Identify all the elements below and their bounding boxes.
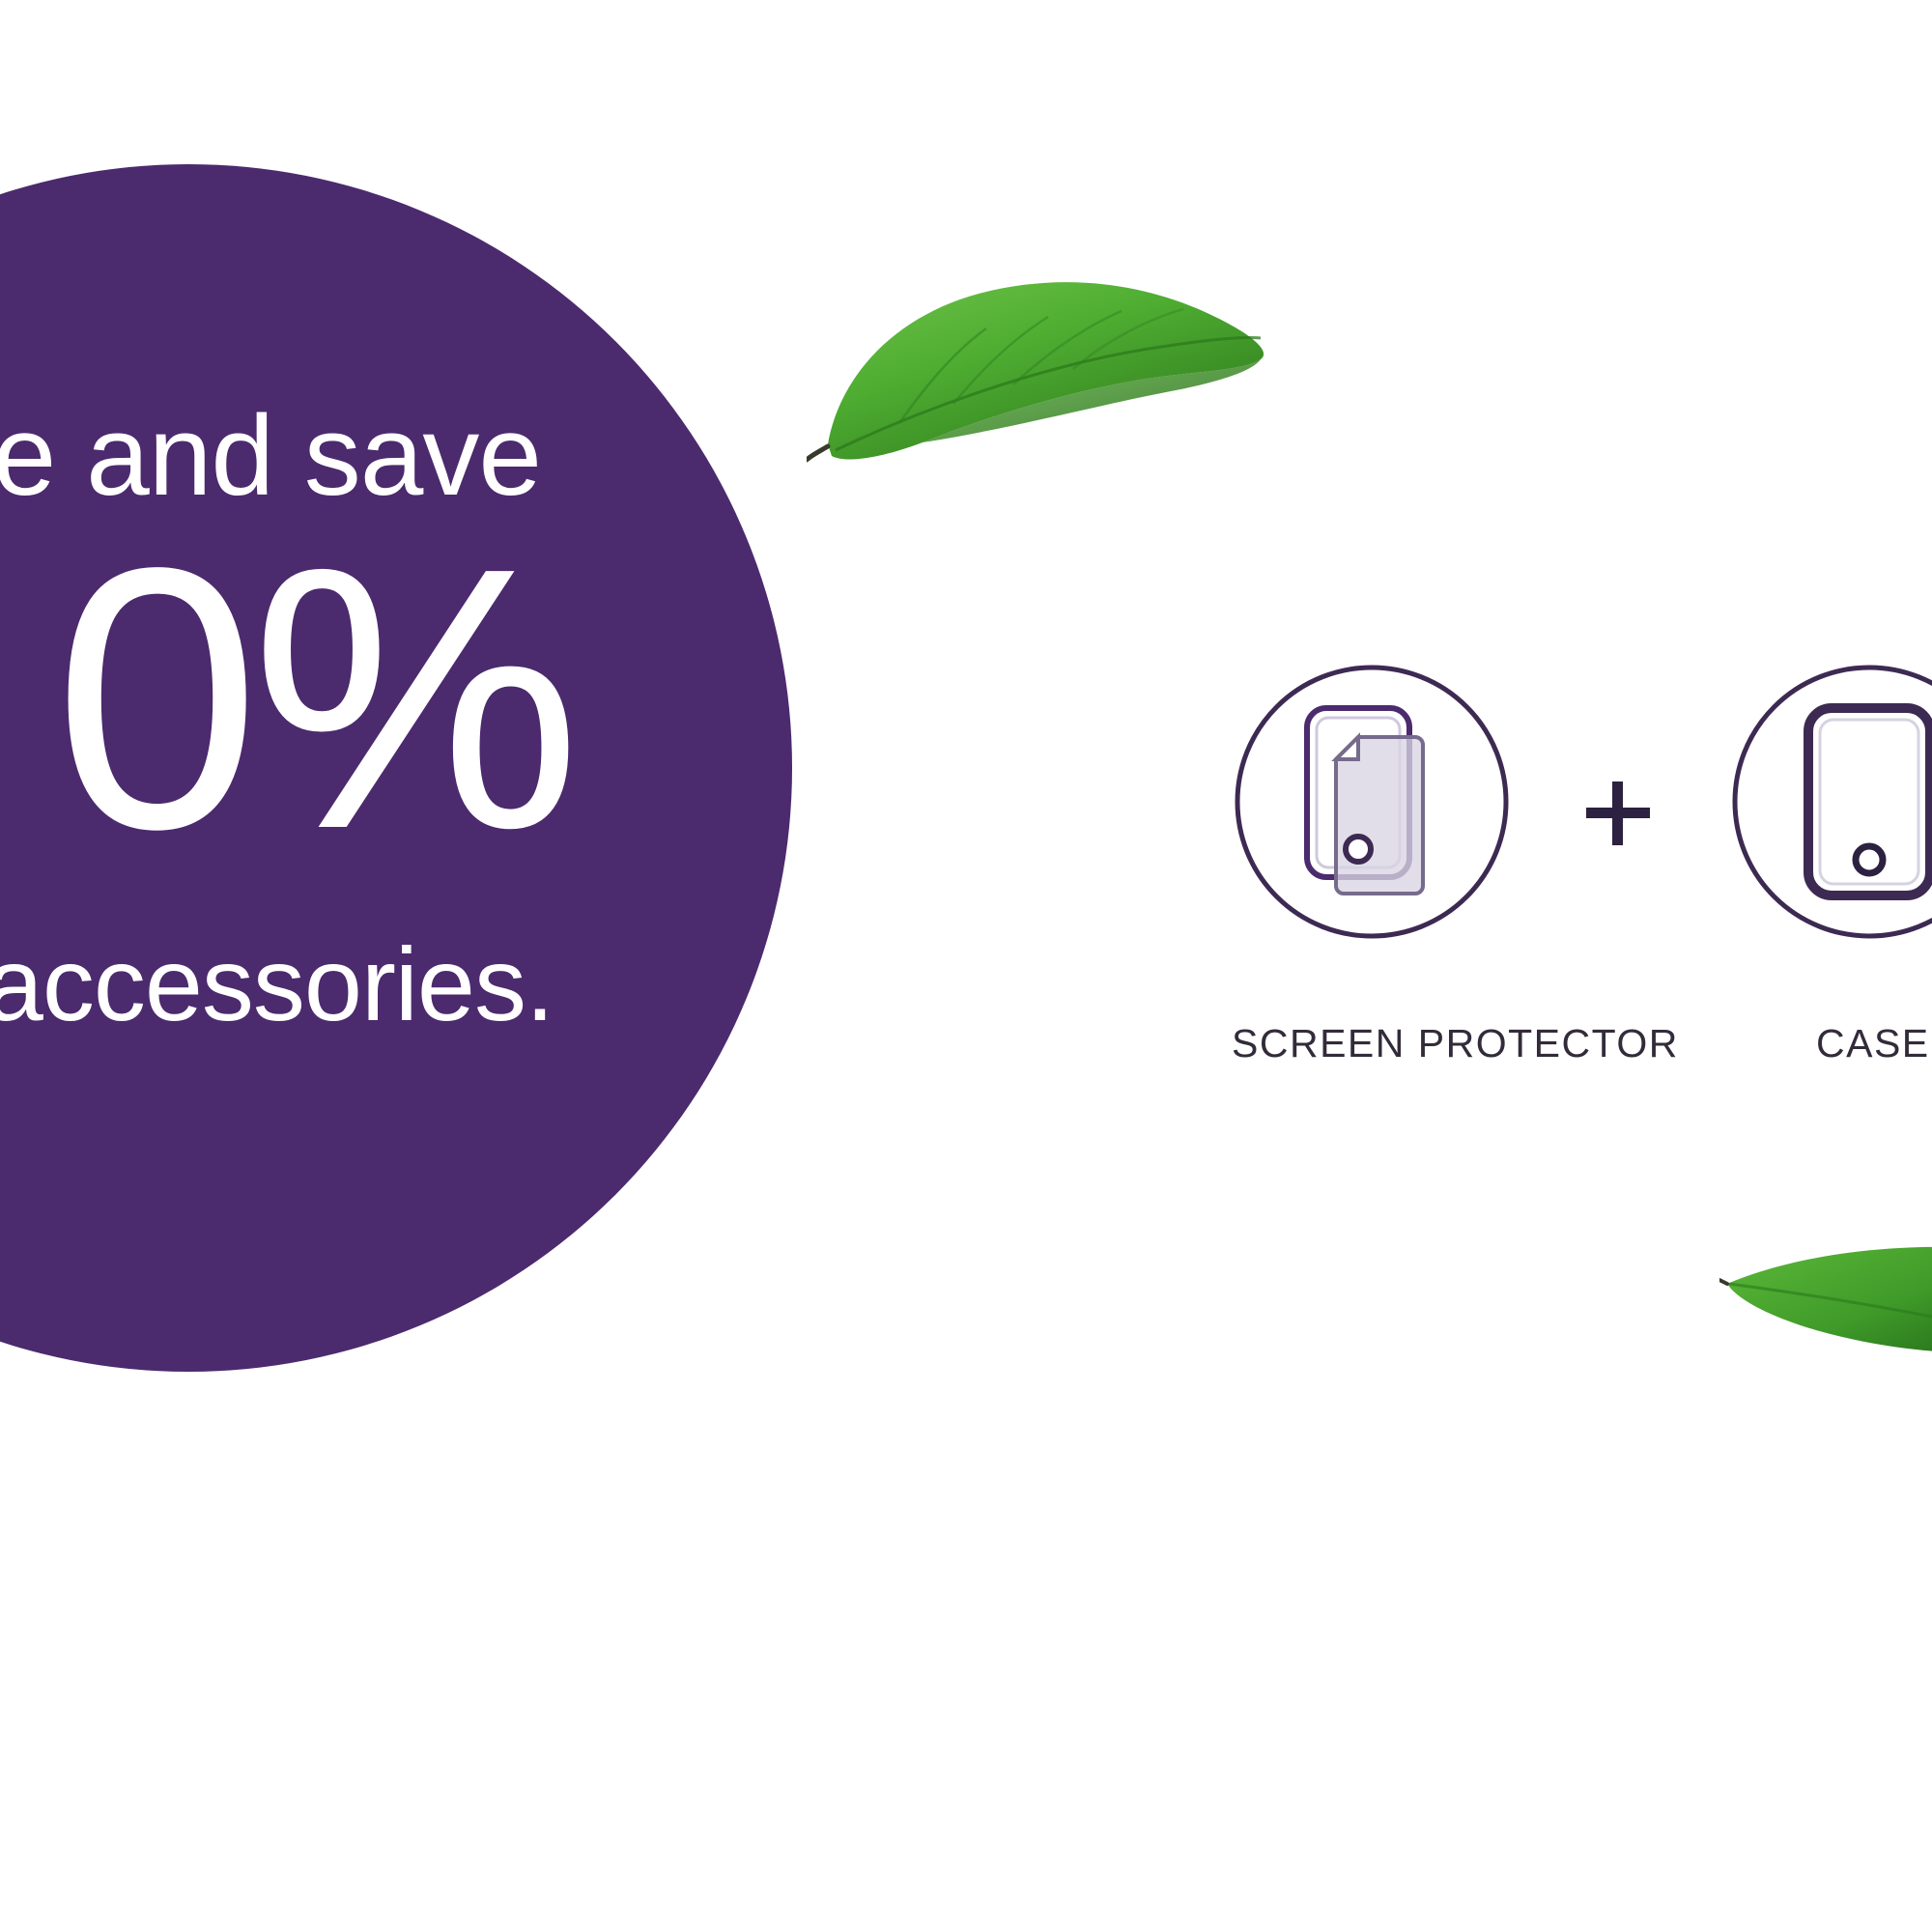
leaf-icon-bottom <box>1719 1241 1932 1381</box>
leaf-icon-top <box>807 261 1270 464</box>
plus-icon <box>1582 778 1654 849</box>
accessory-item-case[interactable]: CASE <box>1729 662 1932 1066</box>
accessory-item-screen-protector[interactable]: SCREEN PROTECTOR <box>1232 662 1512 1066</box>
accessory-bundle-row: SCREEN PROTECTOR CASE <box>1232 662 1932 1164</box>
accessory-label: CASE <box>1729 1021 1932 1066</box>
accessory-label: SCREEN PROTECTOR <box>1232 1021 1512 1066</box>
promo-banner: dle and save 0% u buy 3 accessories. <box>0 0 1932 1932</box>
phone-case-icon <box>1729 662 1932 942</box>
promo-subtext: u buy 3 accessories. <box>0 932 792 1037</box>
promo-discount-value: 0% <box>0 512 792 884</box>
screen-protector-icon <box>1232 662 1512 942</box>
promo-text-block: dle and save 0% u buy 3 accessories. <box>0 164 792 1372</box>
